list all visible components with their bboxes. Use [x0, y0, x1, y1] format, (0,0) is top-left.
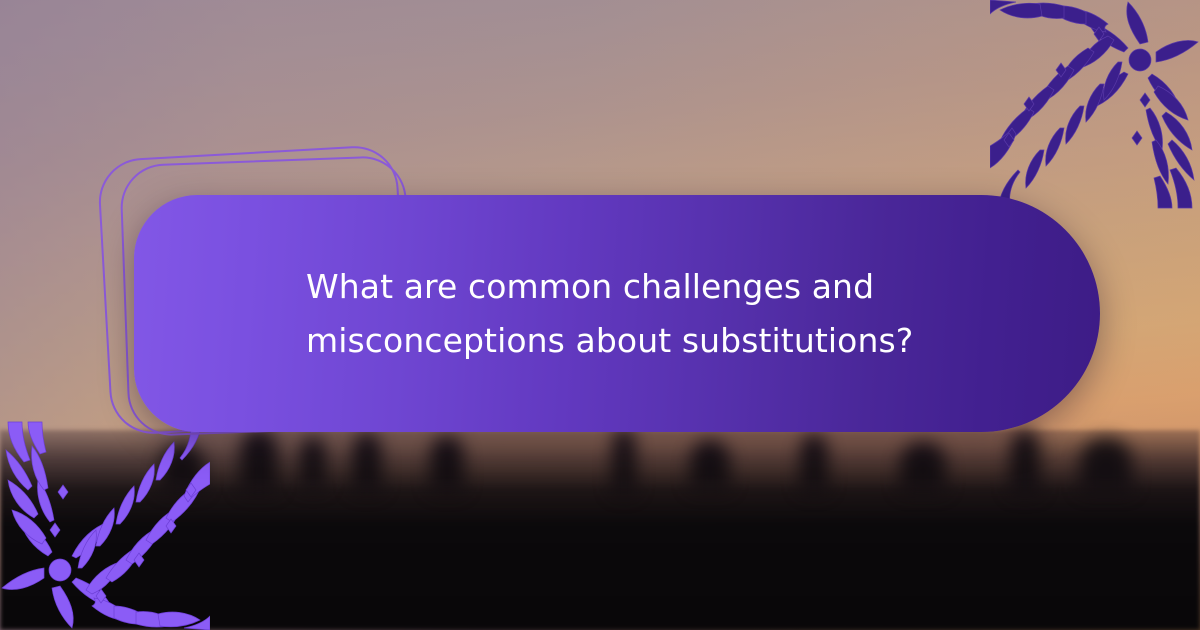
silhouette-figure	[352, 432, 382, 492]
silhouette-figure	[900, 442, 946, 492]
question-card[interactable]: What are common challenges and misconcep…	[134, 195, 1100, 432]
silhouette-figure	[160, 444, 204, 492]
question-text: What are common challenges and misconcep…	[134, 260, 1100, 368]
promo-card-canvas: What are common challenges and misconcep…	[0, 0, 1200, 630]
silhouette-figure	[300, 437, 326, 489]
silhouette-figure	[800, 434, 828, 492]
silhouette-figure	[1080, 438, 1132, 492]
silhouette-figure	[240, 430, 278, 492]
silhouette-figure	[612, 428, 636, 494]
silhouette-figure	[1010, 430, 1040, 494]
silhouette-figure	[430, 436, 464, 492]
silhouette-figure	[690, 440, 730, 490]
